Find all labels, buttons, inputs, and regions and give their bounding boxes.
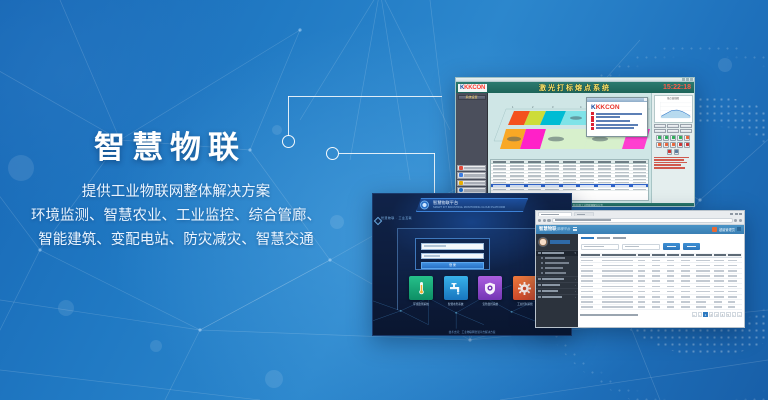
forward-icon[interactable] — [543, 219, 546, 222]
screenshot-laser-marking-system[interactable]: KKKCON 激光打标熔点系统 15:22:18 系统设置 — [455, 77, 695, 207]
page-subtitle: 提供工业物联网整体解决方案 环境监测、智慧农业、工业监控、综合管廊、 智能建筑、… — [0, 180, 352, 252]
status-icon-warn[interactable] — [670, 142, 676, 148]
gear-icon — [420, 201, 429, 210]
folder-icon — [538, 278, 541, 281]
dialog-line — [591, 123, 647, 126]
menu-icon[interactable] — [739, 219, 742, 222]
melting-point-chart[interactable]: 熔点曲线图 — [654, 95, 693, 123]
page-prev[interactable]: ‹ — [698, 312, 703, 317]
page-4[interactable]: 4 — [720, 312, 725, 317]
chevron-right-icon: › — [575, 277, 576, 281]
tile-label: 工业控制系统 — [513, 302, 537, 306]
app-body: 系统设置 — [456, 93, 694, 203]
page-next[interactable]: › — [732, 312, 737, 317]
sidebar-button-params[interactable] — [457, 165, 486, 172]
dot-icon — [541, 257, 543, 259]
bokeh-dot — [150, 340, 162, 352]
dialog-line — [591, 112, 647, 115]
tile-environment-monitoring[interactable]: 环境监测系统 — [409, 276, 433, 306]
system-title: 激光打标熔点系统 — [456, 83, 694, 93]
window-controls[interactable] — [730, 213, 744, 216]
tab-bulk-import[interactable] — [613, 237, 626, 240]
page-last[interactable]: ›› — [737, 312, 742, 317]
admin-main: ‹‹ ‹ 1 2 3 4 5 › ›› — [578, 234, 744, 329]
tile-smart-water[interactable]: 智慧水务系统 — [444, 276, 468, 306]
param-setting-button[interactable] — [680, 129, 692, 133]
search-toolbar[interactable] — [580, 241, 742, 253]
tile-label: 环境监测系统 — [409, 302, 433, 306]
tile-security-monitoring[interactable]: 安防监控系统 — [478, 276, 502, 306]
status-icon-alarm[interactable] — [667, 149, 673, 155]
bokeh-dot — [265, 370, 283, 388]
bullet-icon — [591, 116, 594, 119]
bullet-icon — [591, 127, 594, 130]
dot-icon — [541, 272, 543, 274]
dashboard-badge[interactable]: 智慧物联平台 SMART IOT INDUSTRIAL MONITORING C… — [416, 198, 528, 212]
address-bar[interactable] — [536, 217, 744, 224]
app-header: KKKCON 激光打标熔点系统 15:22:18 — [456, 82, 694, 93]
banner-root: 智慧物联 提供工业物联网整体解决方案 环境监测、智慧农业、工业监控、综合管廊、 … — [0, 0, 768, 400]
folder-icon — [538, 252, 541, 255]
browser-tab-active[interactable] — [538, 212, 572, 217]
login-button[interactable]: 登 录 — [421, 262, 484, 269]
app-logo[interactable]: 智慧物联管理平台 — [539, 226, 570, 232]
status-icon-warn[interactable] — [684, 135, 690, 141]
app-header-right[interactable]: 超级管理员 — [712, 227, 741, 232]
info-dialog[interactable]: KKKCON — [586, 97, 648, 137]
dialog-line — [591, 119, 647, 122]
minimize-icon[interactable] — [730, 213, 733, 216]
username-field[interactable] — [421, 243, 484, 250]
dialog-close-icon[interactable] — [644, 98, 647, 101]
center-panel: 123 456 KKKCON — [488, 93, 652, 203]
stop-detect-button[interactable] — [667, 124, 679, 128]
status-icon-gear[interactable] — [674, 149, 680, 155]
maximize-icon[interactable] — [735, 213, 738, 216]
tile-industrial-control[interactable]: 工业控制系统 — [513, 276, 537, 306]
dialog-line — [591, 116, 647, 119]
status-icon-alarm[interactable] — [684, 142, 690, 148]
maximize-icon[interactable] — [686, 78, 689, 81]
tile-label: 安防监控系统 — [478, 302, 502, 306]
tile-label: 智慧水务系统 — [444, 302, 468, 306]
tab-device-add[interactable] — [597, 237, 610, 240]
admin-body: ▾ › › › › — [536, 234, 744, 329]
status-icon-alarm[interactable] — [677, 142, 683, 148]
admin-sidebar[interactable]: ▾ › › › › — [536, 234, 578, 329]
clock-display: 15:22:18 — [663, 84, 691, 91]
left-sidebar[interactable]: 系统设置 — [456, 93, 488, 203]
avatar — [538, 237, 548, 247]
sidebar-item-system-params[interactable]: › — [536, 294, 578, 300]
reload-icon[interactable] — [547, 219, 550, 222]
app-header-bar: 智慧物联管理平台 超级管理员 — [536, 225, 744, 234]
status-icon-ok[interactable] — [670, 135, 676, 141]
svg-text:4: 4 — [580, 105, 582, 109]
pagination-info — [580, 314, 638, 316]
close-icon[interactable] — [690, 78, 693, 81]
dialog-brand: KKKCON — [591, 104, 647, 111]
bullet-icon — [591, 123, 594, 126]
table-row[interactable] — [491, 188, 648, 191]
sidebar-profile[interactable] — [536, 234, 578, 250]
bokeh-dot — [58, 300, 74, 316]
menu-toggle-icon[interactable] — [573, 227, 577, 231]
dialog-brand-name: KKCON — [596, 104, 620, 111]
chevron-right-icon: › — [575, 295, 576, 299]
params-icon — [459, 166, 463, 170]
dashboard-side-tag: 智慧物联 · 工业互联 — [381, 216, 412, 220]
dot-icon — [541, 262, 543, 264]
subtitle-line-3: 智能建筑、变配电站、防灾减灾、智慧交通 — [0, 228, 352, 252]
page-1[interactable]: 1 — [703, 312, 708, 317]
logout-icon[interactable] — [737, 227, 741, 231]
tab-device-list[interactable] — [581, 237, 594, 240]
subtitle-line-1: 提供工业物联网整体解决方案 — [0, 180, 352, 204]
dashboard-subtitle: SMART IOT INDUSTRIAL MONITORING CLOUD PL… — [433, 205, 517, 210]
table-row[interactable] — [580, 304, 742, 309]
page-2[interactable]: 2 — [709, 312, 714, 317]
browser-tab-new[interactable] — [574, 212, 594, 217]
dashboard-footer: 技术支持：工业物联网智慧平台解决方案 — [373, 330, 571, 334]
svg-text:2: 2 — [532, 105, 534, 109]
table-body — [580, 258, 742, 310]
status-icon-ok[interactable] — [663, 135, 669, 141]
reset-button[interactable] — [683, 243, 700, 250]
dot-icon — [541, 267, 543, 269]
search-button[interactable] — [663, 243, 680, 250]
alarm-icon — [459, 181, 463, 185]
folder-icon — [538, 290, 541, 293]
chevron-down-icon: ▾ — [574, 251, 576, 255]
bullet-icon — [591, 112, 594, 115]
chart-svg — [655, 100, 692, 121]
process-icon — [459, 173, 463, 177]
subtitle-line-2: 环境监测、智慧农业、工业监控、综合管廊、 — [0, 204, 352, 228]
page-5[interactable]: 5 — [726, 312, 731, 317]
bullet-icon — [591, 119, 594, 122]
folder-icon — [538, 296, 541, 299]
svg-text:3: 3 — [552, 105, 554, 109]
back-icon[interactable] — [538, 219, 541, 222]
close-icon[interactable] — [739, 213, 742, 216]
pagination-pages[interactable]: ‹‹ ‹ 1 2 3 4 5 › ›› — [692, 312, 742, 317]
password-field[interactable] — [421, 253, 484, 260]
alarm-log-list — [654, 157, 693, 169]
chevron-right-icon: › — [575, 289, 576, 293]
current-user-label: 超级管理员 — [719, 227, 735, 232]
keyword-input[interactable] — [581, 244, 619, 250]
sidebar-button-alarm[interactable] — [457, 180, 486, 187]
sidebar-tab-settings[interactable]: 系统设置 — [458, 95, 486, 100]
status-icon-warn[interactable] — [663, 142, 669, 148]
page-title: 智慧物联 — [0, 122, 340, 167]
type-select[interactable] — [622, 244, 660, 250]
clear-data-button[interactable] — [680, 124, 692, 128]
device-table[interactable] — [580, 253, 742, 310]
gear-icon — [518, 282, 531, 295]
status-icon-ok[interactable] — [677, 135, 683, 141]
url-input[interactable] — [552, 218, 733, 223]
dialog-line — [591, 127, 647, 130]
faucet-icon — [449, 282, 462, 295]
dialog-titlebar[interactable] — [587, 98, 647, 102]
folder-icon — [538, 284, 541, 287]
thermometer-icon — [416, 281, 427, 295]
shield-icon — [484, 282, 496, 295]
login-form[interactable]: 登 录 — [415, 238, 490, 270]
page-3[interactable]: 3 — [714, 312, 719, 317]
star-icon[interactable] — [734, 219, 737, 222]
screenshot-admin-panel[interactable]: 智慧物联管理平台 超级管理员 ▾ › — [535, 210, 745, 328]
chevron-right-icon: › — [575, 283, 576, 287]
notification-icon[interactable] — [712, 227, 717, 232]
print-report-button[interactable] — [667, 129, 679, 133]
module-tile-row[interactable]: 环境监测系统 智慧水务系统 — [409, 276, 537, 306]
page-first[interactable]: ‹‹ — [692, 312, 697, 317]
svg-text:1: 1 — [512, 105, 514, 109]
stats-icon — [459, 188, 463, 192]
profile-name — [550, 240, 570, 244]
pagination-bar[interactable]: ‹‹ ‹ 1 2 3 4 5 › ›› — [580, 310, 742, 317]
minimize-icon[interactable] — [682, 78, 685, 81]
sidebar-button-process[interactable] — [457, 172, 486, 179]
browser-chrome — [536, 211, 744, 225]
